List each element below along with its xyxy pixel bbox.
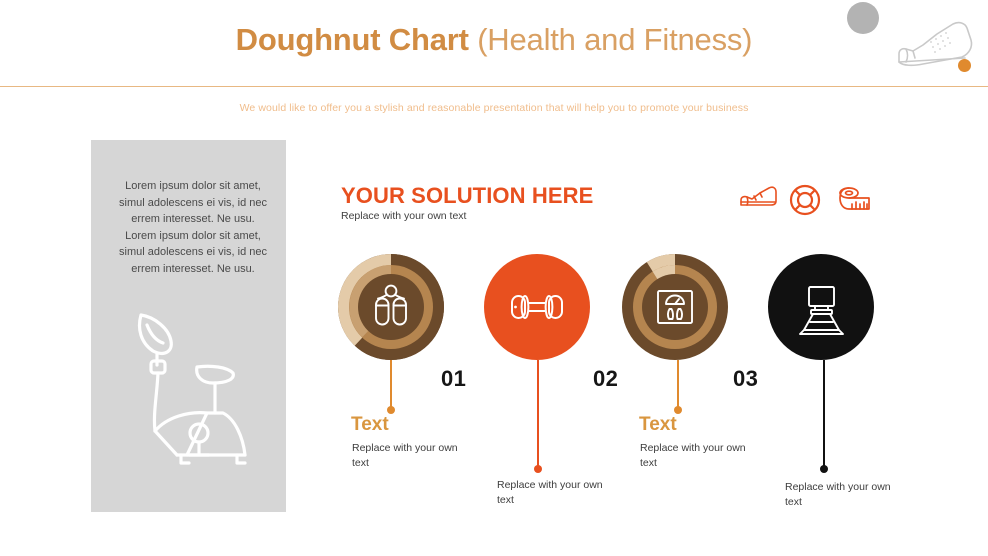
- chart-circle-3[interactable]: [622, 254, 728, 360]
- left-panel-paragraph: Lorem ipsum dolor sit amet, simul adoles…: [119, 178, 267, 277]
- caption-body-4: Replace with your own text: [785, 480, 905, 510]
- fitness-icon-row: [738, 184, 878, 214]
- gray-circle-decoration: [847, 2, 879, 34]
- connector-line-1: [390, 360, 392, 410]
- step-number-02: 02: [593, 366, 618, 392]
- connector-dot-3: [674, 406, 682, 414]
- solution-subheading: Replace with your own text: [341, 210, 466, 222]
- solution-heading: YOUR SOLUTION HERE: [341, 183, 593, 209]
- life-ring-icon: [789, 184, 821, 221]
- caption-heading-1: Text: [351, 414, 389, 436]
- orange-dot-decoration: [958, 59, 971, 72]
- page-title-bold: Doughnut Chart: [236, 22, 478, 57]
- chart-circle-1[interactable]: [338, 254, 444, 360]
- step-number-01: 01: [441, 366, 466, 392]
- page-title-regular: (Health and Fitness): [477, 22, 752, 57]
- header-subtitle: We would like to offer you a stylish and…: [0, 102, 988, 114]
- connector-dot-2: [534, 465, 542, 473]
- dumbbell-icon: [484, 254, 590, 360]
- left-info-panel: Lorem ipsum dolor sit amet, simul adoles…: [91, 140, 286, 512]
- treadmill-icon: [768, 254, 874, 360]
- weight-scale-icon: [622, 254, 728, 360]
- chart-circle-2[interactable]: [484, 254, 590, 360]
- step-number-03: 03: [733, 366, 758, 392]
- hand-grip-icon: [338, 254, 444, 360]
- exercise-bike-icon: [111, 295, 271, 495]
- connector-line-3: [677, 360, 679, 410]
- chart-circle-4[interactable]: [768, 254, 874, 360]
- connector-line-2: [537, 360, 539, 470]
- slide-root: Doughnut Chart (Health and Fitness) We w…: [0, 0, 988, 556]
- page-title: Doughnut Chart (Health and Fitness): [0, 18, 988, 62]
- caption-body-3: Replace with your own text: [640, 441, 760, 471]
- caption-body-1: Replace with your own text: [352, 441, 472, 471]
- caption-heading-3: Text: [639, 414, 677, 436]
- connector-line-4: [823, 360, 825, 470]
- connector-dot-4: [820, 465, 828, 473]
- sneaker-icon: [738, 184, 778, 215]
- header-divider: [0, 86, 988, 87]
- caption-body-2: Replace with your own text: [497, 478, 617, 508]
- measuring-tape-icon: [838, 184, 872, 219]
- connector-dot-1: [387, 406, 395, 414]
